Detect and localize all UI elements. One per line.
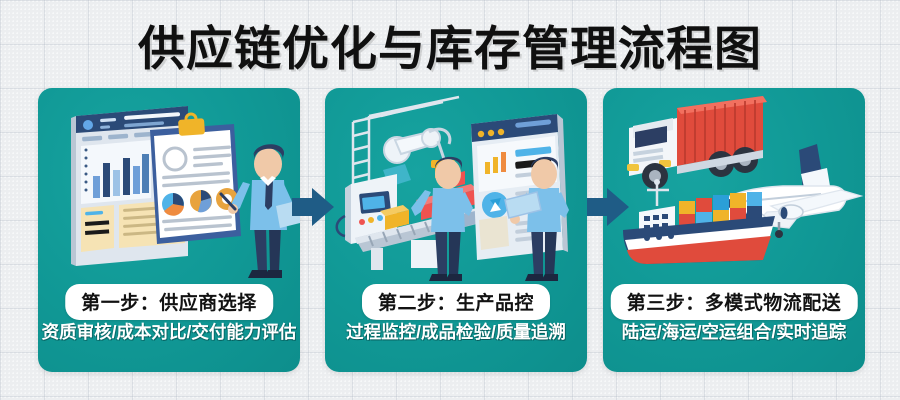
step-label-3: 第三步：多模式物流配送: [627, 293, 842, 314]
step-label-pill-3: 第三步：多模式物流配送: [611, 284, 858, 320]
arrow-step2-to-step3-icon: [585, 184, 631, 230]
cargo-truck-icon: [627, 96, 767, 189]
step-subtitle-2: 过程监控/成品检验/质量追溯: [325, 319, 587, 344]
step-subtitle-1: 资质审核/成本对比/交付能力评估: [38, 319, 300, 344]
step-label-pill-1: 第一步：供应商选择: [65, 284, 273, 320]
step-panel-3[interactable]: 第三步：多模式物流配送 陆运/海运/空运组合/实时追踪: [603, 88, 865, 372]
step-label-1: 第一步：供应商选择: [81, 293, 257, 314]
production-quality-illustration: [325, 88, 587, 284]
step-subtitle-3: 陆运/海运/空运组合/实时追踪: [603, 319, 865, 344]
page-title: 供应链优化与库存管理流程图: [138, 10, 762, 79]
arrow-step1-to-step2-icon: [290, 184, 336, 230]
step-label-2: 第二步：生产品控: [378, 293, 534, 314]
supplier-evaluation-illustration: [38, 88, 300, 284]
step-label-pill-2: 第二步：生产品控: [362, 284, 550, 320]
step-panel-1[interactable]: 第一步：供应商选择 资质审核/成本对比/交付能力评估: [38, 88, 300, 372]
infographic-canvas: 供应链优化与库存管理流程图: [0, 0, 900, 400]
step-panel-2[interactable]: 第二步：生产品控 过程监控/成品检验/质量追溯: [325, 88, 587, 372]
clipboard-report-icon: [150, 114, 241, 244]
multimodal-logistics-illustration: [603, 88, 865, 284]
title-bar: 供应链优化与库存管理流程图: [0, 6, 900, 82]
